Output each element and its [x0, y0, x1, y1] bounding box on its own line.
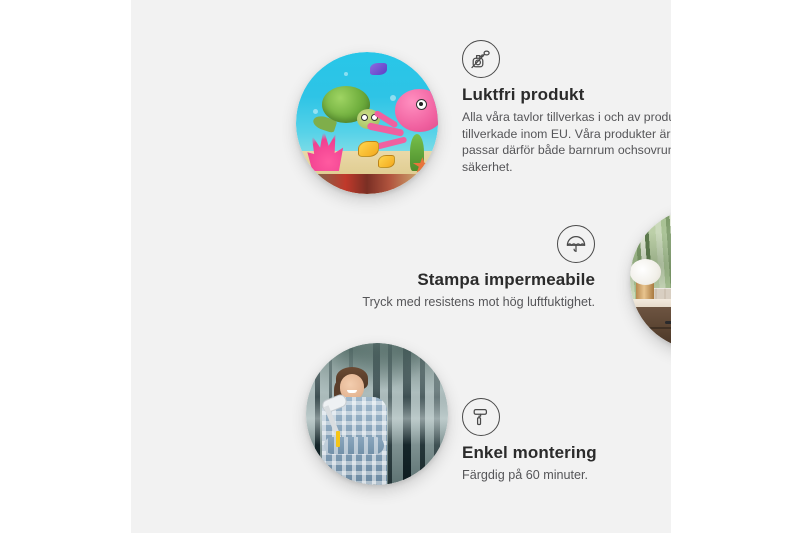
yellow-tool: [336, 431, 340, 447]
product-image-forest-mural-painter: [306, 343, 448, 485]
yellow-fish-icon: [358, 141, 378, 157]
underwater-bottom-strip: [296, 174, 438, 194]
feature-waterproof: Stampa impermeabile Tryck med resistens …: [327, 225, 595, 311]
drawer-handle: [665, 321, 671, 324]
white-flowers: [630, 259, 661, 285]
product-image-underwater-mural: [296, 52, 438, 194]
feature-odourless-icon-wrap: [462, 40, 671, 78]
feature-odourless-body: Alla våra tavlor tillverkas i och av pro…: [462, 109, 671, 175]
feature-waterproof-body: Tryck med resistens mot hög luftfuktighe…: [327, 294, 595, 311]
person-smile: [347, 390, 357, 393]
bubble-icon: [390, 95, 396, 101]
bubble-icon: [313, 109, 318, 114]
purple-fish-icon: [370, 63, 387, 74]
paint-roller-icon: [462, 398, 500, 436]
feature-waterproof-icon-wrap: [327, 225, 595, 263]
feature-odourless: Luktfri produkt Alla våra tavlor tillver…: [462, 40, 671, 175]
product-image-bathroom-wallpaper: [630, 208, 671, 350]
wooden-vanity: [636, 307, 671, 350]
feature-easy-title: Enkel montering: [462, 443, 671, 463]
no-odour-perfume-icon: [462, 40, 500, 78]
feature-waterproof-title: Stampa impermeabile: [327, 270, 595, 290]
feature-easy-icon-wrap: [462, 398, 671, 436]
octopus-icon: [395, 89, 438, 132]
vanity-seam: [636, 327, 671, 329]
infographic-canvas: Luktfri produkt Alla våra tavlor tillver…: [0, 0, 800, 533]
feature-easy-mounting: Enkel montering Färgdig på 60 minuter.: [462, 398, 671, 484]
person-folded-arms: [324, 437, 384, 454]
feature-odourless-title: Luktfri produkt: [462, 85, 671, 105]
umbrella-icon: [557, 225, 595, 263]
feature-easy-body: Färgdig på 60 minuter.: [462, 467, 671, 484]
content-panel: Luktfri produkt Alla våra tavlor tillver…: [131, 0, 671, 533]
octopus-eye: [416, 99, 427, 110]
